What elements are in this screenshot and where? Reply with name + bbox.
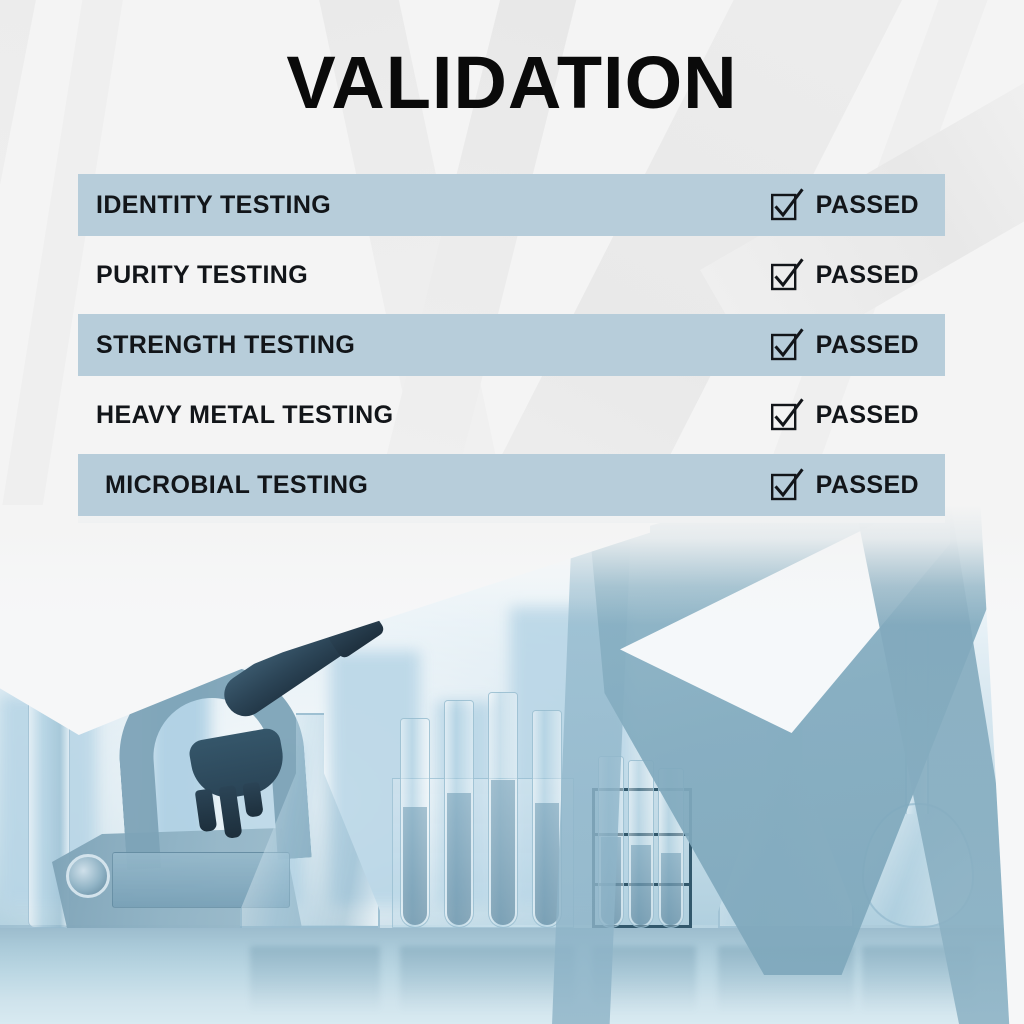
checkbox-checked-icon[interactable] <box>770 188 804 222</box>
poster-canvas: VALIDATION <box>0 0 1024 1024</box>
row-status: PASSED <box>770 258 919 292</box>
reflection <box>250 946 380 1024</box>
checklist-row-heavy-metal-testing[interactable]: HEAVY METAL TESTING PASSED <box>78 384 945 446</box>
laboratory-photo <box>0 505 1024 1024</box>
validation-checklist: IDENTITY TESTING PASSED PURITY TESTING P… <box>78 174 945 524</box>
checkbox-checked-icon[interactable] <box>770 468 804 502</box>
reflection <box>400 946 575 1024</box>
checklist-row-microbial-testing[interactable]: MICROBIAL TESTING PASSED <box>78 454 945 516</box>
checkbox-checked-icon[interactable] <box>770 398 804 432</box>
status-text: PASSED <box>816 331 919 360</box>
microscope-objectives <box>195 782 267 843</box>
page-title: VALIDATION <box>0 46 1024 120</box>
status-text: PASSED <box>816 261 919 290</box>
row-label: PURITY TESTING <box>96 261 308 290</box>
status-text: PASSED <box>816 191 919 220</box>
checklist-row-identity-testing[interactable]: IDENTITY TESTING PASSED <box>78 174 945 236</box>
row-status: PASSED <box>770 328 919 362</box>
row-label: MICROBIAL TESTING <box>105 471 368 500</box>
test-tube-group <box>400 692 562 928</box>
status-text: PASSED <box>816 401 919 430</box>
row-label: IDENTITY TESTING <box>96 191 331 220</box>
microscope-focus-knob <box>66 854 110 898</box>
checkbox-checked-icon[interactable] <box>770 258 804 292</box>
checklist-row-strength-testing[interactable]: STRENGTH TESTING PASSED <box>78 314 945 376</box>
row-status: PASSED <box>770 468 919 502</box>
row-label: HEAVY METAL TESTING <box>96 401 393 430</box>
row-label: STRENGTH TESTING <box>96 331 355 360</box>
checkbox-checked-icon[interactable] <box>770 328 804 362</box>
row-status: PASSED <box>770 188 919 222</box>
row-status: PASSED <box>770 398 919 432</box>
checklist-row-purity-testing[interactable]: PURITY TESTING PASSED <box>78 244 945 306</box>
status-text: PASSED <box>816 471 919 500</box>
